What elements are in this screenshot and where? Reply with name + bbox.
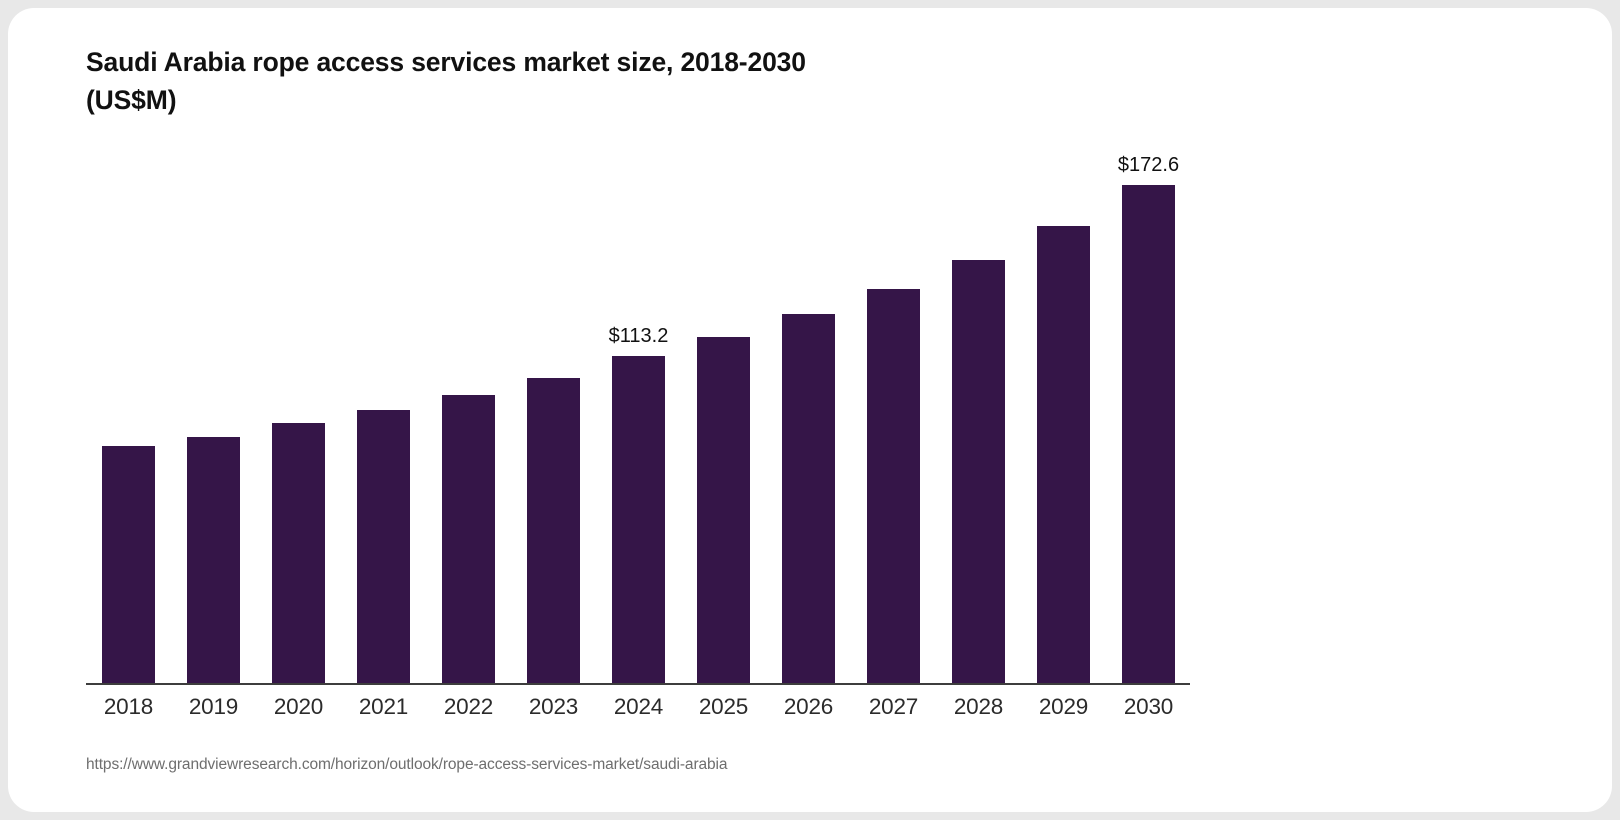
x-tick-2027: 2027 [851, 694, 936, 720]
source-url[interactable]: https://www.grandviewresearch.com/horizo… [86, 756, 727, 774]
bar-rect-2023[interactable] [527, 378, 580, 683]
bar-2021[interactable] [341, 146, 426, 683]
x-tick-2028: 2028 [936, 694, 1021, 720]
x-tick-2021: 2021 [341, 694, 426, 720]
bar-rect-2020[interactable] [272, 423, 325, 683]
bar-rect-2021[interactable] [357, 410, 410, 683]
bar-rect-2026[interactable] [782, 314, 835, 683]
bar-rect-2027[interactable] [867, 289, 920, 683]
bar-2020[interactable] [256, 146, 341, 683]
x-tick-2024: 2024 [596, 694, 681, 720]
bar-rect-2025[interactable] [697, 337, 750, 683]
x-axis-tick-labels: 2018201920202021202220232024202520262027… [86, 694, 1190, 730]
x-tick-2018: 2018 [86, 694, 171, 720]
bar-rect-2028[interactable] [952, 260, 1005, 683]
x-tick-2030: 2030 [1106, 694, 1191, 720]
bar-2023[interactable] [511, 146, 596, 683]
bar-rect-2019[interactable] [187, 437, 240, 683]
x-tick-2023: 2023 [511, 694, 596, 720]
bar-2027[interactable] [851, 146, 936, 683]
x-tick-2019: 2019 [171, 694, 256, 720]
bar-value-label-2030: $172.6 [1118, 154, 1179, 177]
bar-value-label-2024: $113.2 [609, 325, 669, 348]
bar-2018[interactable] [86, 146, 171, 683]
bar-2028[interactable] [936, 146, 1021, 683]
bar-rect-2022[interactable] [442, 395, 495, 683]
x-tick-2025: 2025 [681, 694, 766, 720]
bar-2022[interactable] [426, 146, 511, 683]
bar-rect-2024[interactable] [612, 356, 665, 683]
x-axis-line [86, 683, 1190, 685]
x-tick-2022: 2022 [426, 694, 511, 720]
page-title: Saudi Arabia rope access services market… [86, 44, 1186, 119]
bar-2026[interactable] [766, 146, 851, 683]
bar-2030[interactable]: $172.6 [1106, 146, 1191, 683]
x-tick-2029: 2029 [1021, 694, 1106, 720]
bar-2024[interactable]: $113.2 [596, 146, 681, 683]
bar-rect-2029[interactable] [1037, 226, 1090, 683]
bar-rect-2018[interactable] [102, 446, 155, 683]
x-tick-2026: 2026 [766, 694, 851, 720]
bar-rect-2030[interactable] [1122, 185, 1175, 683]
x-tick-2020: 2020 [256, 694, 341, 720]
bar-2025[interactable] [681, 146, 766, 683]
plot-area: $113.2$172.6 [86, 148, 1190, 685]
bar-2029[interactable] [1021, 146, 1106, 683]
bar-2019[interactable] [171, 146, 256, 683]
chart-card: Saudi Arabia rope access services market… [8, 8, 1612, 812]
